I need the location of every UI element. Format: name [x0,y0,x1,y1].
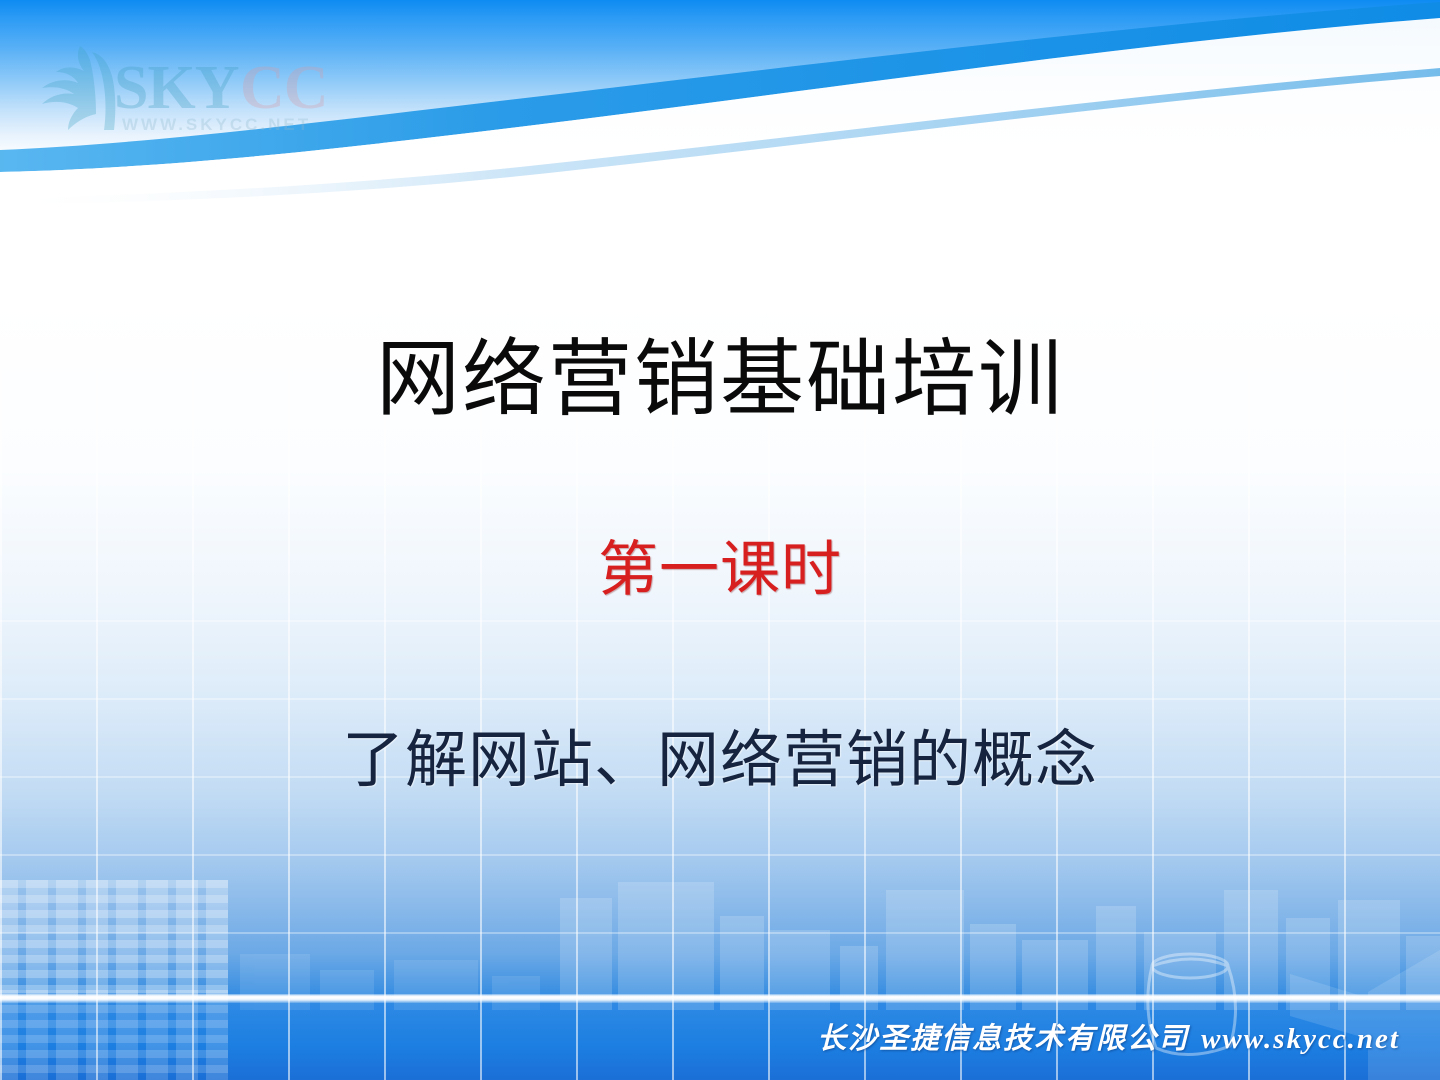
slide-tagline: 了解网站、网络营销的概念 [0,723,1440,799]
slide-subtitle: 第一课时 [0,535,1440,605]
logo-wordmark-cc: CC [240,54,328,122]
eagle-mark [42,46,115,130]
skycc-logo-svg: SKY CC WWW.SKYCC.NET [22,38,352,138]
slide-canvas: SKY CC WWW.SKYCC.NET 网络营销基础培训 第一课时 了解网站、… [0,0,1440,1080]
skycc-logo[interactable]: SKY CC WWW.SKYCC.NET [22,38,352,138]
logo-tagline: WWW.SKYCC.NET [122,115,311,134]
footer-divider-line [0,994,1440,1003]
footer-credit: 长沙圣捷信息技术有限公司www.skycc.net [817,1022,1400,1056]
slide-title: 网络营销基础培训 [0,333,1440,429]
footer-website[interactable]: www.skycc.net [1201,1023,1400,1055]
logo-wordmark-sky: SKY [114,54,239,122]
tube-decoration [0,930,1440,1080]
footer-company: 长沙圣捷信息技术有限公司 [817,1023,1189,1055]
